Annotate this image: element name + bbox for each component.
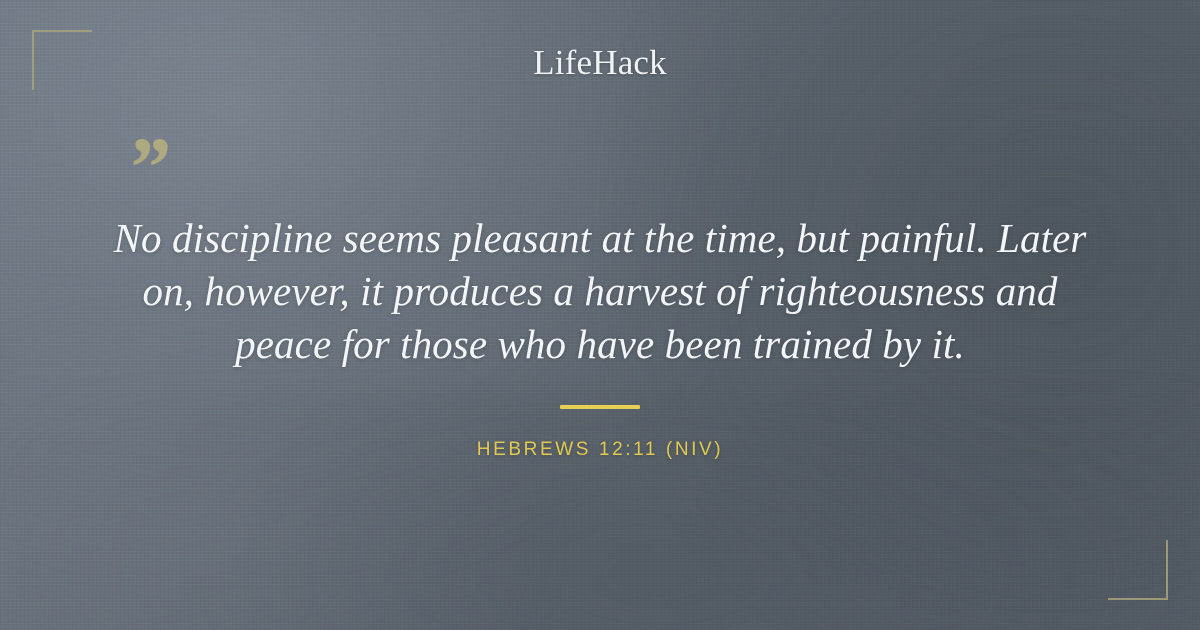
quote-attribution: HEBREWS 12:11 (NIV) [0, 438, 1200, 462]
quote-card: LifeHack ” No discipline seems pleasant … [0, 0, 1200, 630]
quote-block: No discipline seems pleasant at the time… [100, 212, 1100, 371]
quote-line-3: peace for those who have been trained by… [100, 318, 1100, 371]
quote-line-1: No discipline seems pleasant at the time… [100, 212, 1100, 265]
quote-line-2: on, however, it produces a harvest of ri… [100, 265, 1100, 318]
quotation-mark-icon: ” [126, 124, 169, 210]
brand-logo: LifeHack [0, 42, 1200, 83]
gold-divider [560, 405, 640, 409]
